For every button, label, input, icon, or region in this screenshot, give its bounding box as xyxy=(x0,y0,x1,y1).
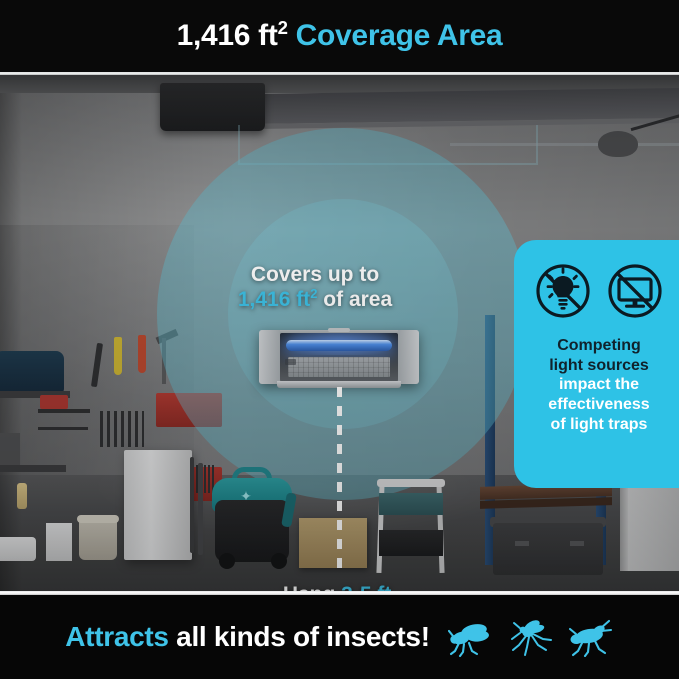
hang-height-line1: Hang 3-5 ft. xyxy=(195,583,485,591)
coverage-area-value: 1,416 ft xyxy=(238,288,310,311)
tool-rail-lower xyxy=(38,427,88,430)
competing-light-line1: Competing xyxy=(548,336,649,356)
competing-light-line4: effectiveness xyxy=(548,395,649,415)
footer-banner: Attracts all kinds of insects! xyxy=(0,595,679,679)
header-title-accent: Coverage Area xyxy=(296,19,503,52)
wall-shelf-lower xyxy=(0,465,66,472)
step-stool-top xyxy=(377,479,445,487)
tool-bag-icon xyxy=(0,351,64,393)
hose-coil-secondary xyxy=(198,463,203,555)
fly-icon xyxy=(448,617,494,657)
coverage-radius-inner xyxy=(228,199,458,429)
hang-height-value: 3-5 ft. xyxy=(341,583,397,591)
header-title-superscript: 2 xyxy=(278,17,288,38)
hang-height-callout: Hang 3-5 ft. off the ground xyxy=(195,583,485,591)
bucket-icon xyxy=(79,518,117,560)
bottle-icon xyxy=(17,483,27,509)
competing-light-text: Competing light sources impact the effec… xyxy=(548,336,649,434)
light-trap-brand-badge xyxy=(285,359,296,365)
red-clip-rack xyxy=(40,395,68,409)
hang-label: Hang xyxy=(283,583,341,591)
header-banner: 1,416 ft2 Coverage Area xyxy=(0,0,679,72)
no-lightbulb-icon xyxy=(534,262,592,320)
light-trap-top-tab xyxy=(328,328,350,332)
uv-light-trap xyxy=(259,330,419,384)
screwdriver-set-icon xyxy=(100,411,144,447)
light-trap-endcap-right xyxy=(398,330,419,384)
page-title: 1,416 ft2 Coverage Area xyxy=(177,21,503,51)
hose-coil xyxy=(190,457,194,553)
opener-motor-icon xyxy=(598,131,638,157)
competing-light-line5: of light traps xyxy=(548,415,649,435)
footer-title: Attracts all kinds of insects! xyxy=(65,621,429,653)
floor-box-tall xyxy=(46,523,72,561)
step-stool-step-upper xyxy=(379,493,443,515)
footer-title-rest: all kinds of insects! xyxy=(169,621,430,652)
header-title-area-value: 1,416 ft xyxy=(177,19,278,52)
vacuum-wheel-right xyxy=(271,553,287,569)
beetle-icon xyxy=(568,617,614,657)
product-infographic: 1,416 ft2 Coverage Area xyxy=(0,0,679,679)
light-trap-glue-board xyxy=(288,357,390,377)
competing-light-line2: light sources xyxy=(548,356,649,376)
hang-height-guide xyxy=(337,387,342,577)
mosquito-icon xyxy=(508,617,554,657)
competing-light-icons xyxy=(534,262,664,320)
floor-box-small xyxy=(0,537,36,561)
competing-light-card: Competing light sources impact the effec… xyxy=(514,240,679,488)
insect-icon-group xyxy=(448,617,614,657)
light-trap-endcap-left xyxy=(259,330,280,384)
vacuum-wheel-left xyxy=(219,553,235,569)
storage-cabinet xyxy=(124,450,192,560)
storage-bin-handle-right xyxy=(570,541,584,546)
garage-scene: ✦ xyxy=(0,75,679,591)
coverage-callout-line1: Covers up to xyxy=(170,263,460,288)
no-tv-icon xyxy=(606,262,664,320)
coverage-callout: Covers up to 1,416 ft2 of area xyxy=(170,263,460,312)
screwdriver-yellow-icon xyxy=(114,337,122,375)
coverage-callout-line2: 1,416 ft2 of area xyxy=(170,288,460,313)
ceiling-rail-secondary xyxy=(450,143,679,146)
screwdriver-red-icon xyxy=(138,335,146,373)
competing-light-line3: impact the xyxy=(548,375,649,395)
storage-bin-handle-left xyxy=(515,541,529,546)
tool-rail-upper xyxy=(38,409,90,413)
wall-shelf-item xyxy=(0,433,20,467)
garage-door-opener-icon xyxy=(160,83,265,131)
footer-title-accent: Attracts xyxy=(65,621,168,652)
uv-bulb-icon xyxy=(286,340,392,351)
cardboard-box xyxy=(299,518,367,568)
step-stool-step-lower xyxy=(379,530,443,556)
glue-board-grid xyxy=(288,357,390,377)
coverage-area-suffix: of area xyxy=(317,288,392,311)
storage-bin xyxy=(493,523,603,575)
light-trap-interior xyxy=(280,333,398,381)
